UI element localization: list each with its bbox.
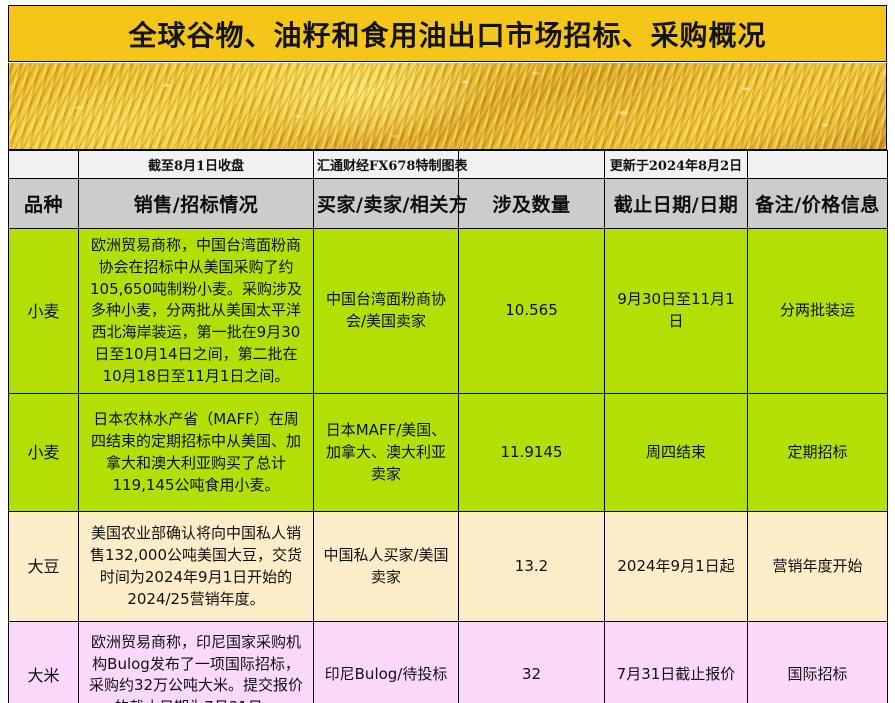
cell-variety: 大米 <box>9 622 79 703</box>
column-header-deadline: 截止日期/日期 <box>605 179 748 229</box>
wheat-grain-highlights <box>9 63 886 149</box>
infographic-page: 全球谷物、油籽和食用油出口市场招标、采购概况 截至8月1日收盘 汇通财经FX67… <box>0 0 895 703</box>
column-header-desc: 销售/招标情况 <box>79 179 314 229</box>
cell-variety: 小麦 <box>9 229 79 394</box>
meta-cell-variety <box>9 151 79 179</box>
table-row: 大米 欧洲贸易商称，印尼国家采购机构Bulog发布了一项国际招标，采购约32万公… <box>9 622 888 703</box>
meta-cell-source: 汇通财经FX678特制图表 <box>314 151 459 179</box>
cell-quantity: 10.565 <box>459 229 605 394</box>
cell-remark: 营销年度开始 <box>748 512 888 622</box>
meta-cell-updated: 更新于2024年8月2日 <box>605 151 748 179</box>
cell-desc: 日本农林水产省（MAFF）在周四结束的定期招标中从美国、加拿大和澳大利亚购买了总… <box>79 394 314 512</box>
cell-quantity: 11.9145 <box>459 394 605 512</box>
cell-quantity: 13.2 <box>459 512 605 622</box>
cell-parties: 印尼Bulog/待投标 <box>314 622 459 703</box>
meta-cell-remark <box>748 151 888 179</box>
cell-parties: 中国私人买家/美国卖家 <box>314 512 459 622</box>
cell-deadline: 周四结束 <box>605 394 748 512</box>
cell-remark: 国际招标 <box>748 622 888 703</box>
title-banner: 全球谷物、油籽和食用油出口市场招标、采购概况 <box>8 5 887 62</box>
wheat-field-photo <box>8 63 887 150</box>
table-meta-row: 截至8月1日收盘 汇通财经FX678特制图表 更新于2024年8月2日 <box>9 151 888 179</box>
cell-deadline: 2024年9月1日起 <box>605 512 748 622</box>
cell-parties: 日本MAFF/美国、加拿大、澳大利亚卖家 <box>314 394 459 512</box>
page-title: 全球谷物、油籽和食用油出口市场招标、采购概况 <box>128 14 766 54</box>
column-header-variety: 品种 <box>9 179 79 229</box>
cell-desc: 欧洲贸易商称，中国台湾面粉商协会在招标中从美国采购了约105,650吨制粉小麦。… <box>79 229 314 394</box>
cell-deadline: 9月30日至11月1日 <box>605 229 748 394</box>
column-header-remark: 备注/价格信息 <box>748 179 888 229</box>
cell-desc: 欧洲贸易商称，印尼国家采购机构Bulog发布了一项国际招标，采购约32万公吨大米… <box>79 622 314 703</box>
cell-desc: 美国农业部确认将向中国私人销售132,000公吨美国大豆，交货时间为2024年9… <box>79 512 314 622</box>
table-header-row: 品种 销售/招标情况 买家/卖家/相关方 涉及数量 截止日期/日期 备注/价格信… <box>9 179 888 229</box>
cell-parties: 中国台湾面粉商协会/美国卖家 <box>314 229 459 394</box>
column-header-quantity: 涉及数量 <box>459 179 605 229</box>
meta-cell-quantity <box>459 151 605 179</box>
cell-deadline: 7月31日截止报价 <box>605 622 748 703</box>
cell-remark: 分两批装运 <box>748 229 888 394</box>
meta-cell-as-of: 截至8月1日收盘 <box>79 151 314 179</box>
cell-remark: 定期招标 <box>748 394 888 512</box>
table-row: 大豆 美国农业部确认将向中国私人销售132,000公吨美国大豆，交货时间为202… <box>9 512 888 622</box>
cell-variety: 大豆 <box>9 512 79 622</box>
cell-variety: 小麦 <box>9 394 79 512</box>
export-tender-table: 截至8月1日收盘 汇通财经FX678特制图表 更新于2024年8月2日 品种 销… <box>8 150 888 703</box>
table-row: 小麦 日本农林水产省（MAFF）在周四结束的定期招标中从美国、加拿大和澳大利亚购… <box>9 394 888 512</box>
cell-quantity: 32 <box>459 622 605 703</box>
column-header-parties: 买家/卖家/相关方 <box>314 179 459 229</box>
table-row: 小麦 欧洲贸易商称，中国台湾面粉商协会在招标中从美国采购了约105,650吨制粉… <box>9 229 888 394</box>
